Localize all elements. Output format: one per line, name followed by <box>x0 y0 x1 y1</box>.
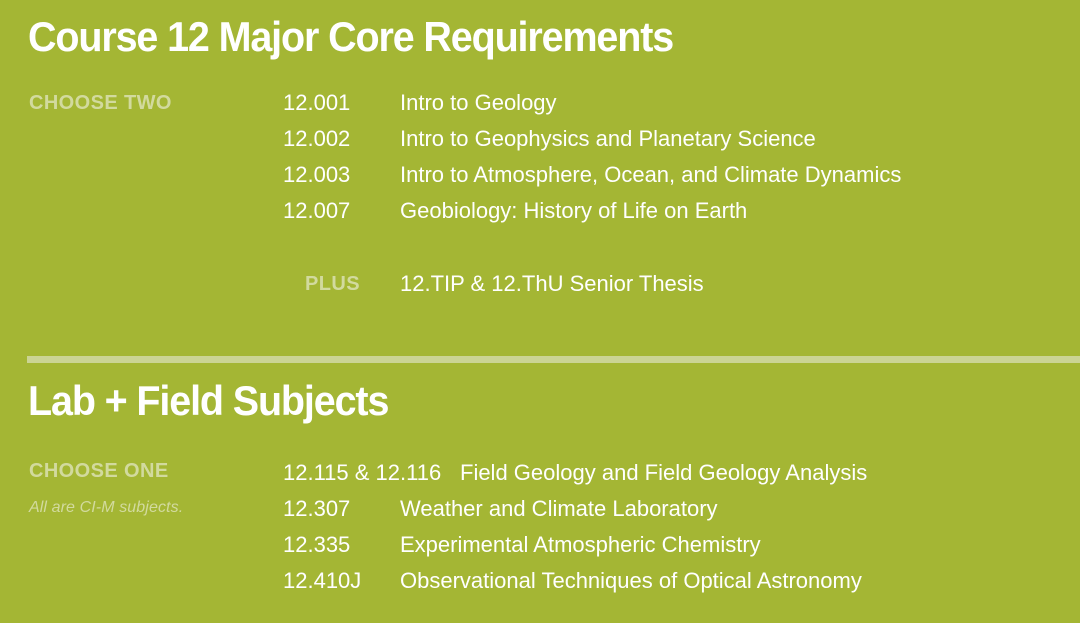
section-divider <box>27 356 1080 363</box>
course-name: Intro to Geophysics and Planetary Scienc… <box>400 128 816 150</box>
plus-label: PLUS <box>283 274 360 294</box>
course-name: Weather and Climate Laboratory <box>400 498 718 520</box>
course-code: 12.307 <box>283 498 350 520</box>
course-code: 12.007 <box>283 200 350 222</box>
course-name: Intro to Atmosphere, Ocean, and Climate … <box>400 164 901 186</box>
course-code: 12.003 <box>283 164 350 186</box>
page-title-core-requirements: Course 12 Major Core Requirements <box>28 16 673 58</box>
plus-thesis-text: 12.TIP & 12.ThU Senior Thesis <box>400 273 704 295</box>
course-code: 12.335 <box>283 534 350 556</box>
course-code: 12.001 <box>283 92 350 114</box>
course-name: Geobiology: History of Life on Earth <box>400 200 747 222</box>
course-name: Observational Techniques of Optical Astr… <box>400 570 862 592</box>
course-code: 12.410J <box>283 570 361 592</box>
choose-label-core: CHOOSE TWO <box>29 93 172 113</box>
ci-m-note: All are CI-M subjects. <box>29 500 183 516</box>
page-title-lab-field-subjects: Lab + Field Subjects <box>28 380 388 422</box>
choose-label-lab: CHOOSE ONE <box>29 461 169 481</box>
course-name: Intro to Geology <box>400 92 557 114</box>
requirements-poster: Course 12 Major Core Requirements CHOOSE… <box>0 0 1080 623</box>
course-code: 12.115 & 12.116 <box>283 462 441 484</box>
course-name: Experimental Atmospheric Chemistry <box>400 534 761 556</box>
course-name: Field Geology and Field Geology Analysis <box>460 462 867 484</box>
course-code: 12.002 <box>283 128 350 150</box>
